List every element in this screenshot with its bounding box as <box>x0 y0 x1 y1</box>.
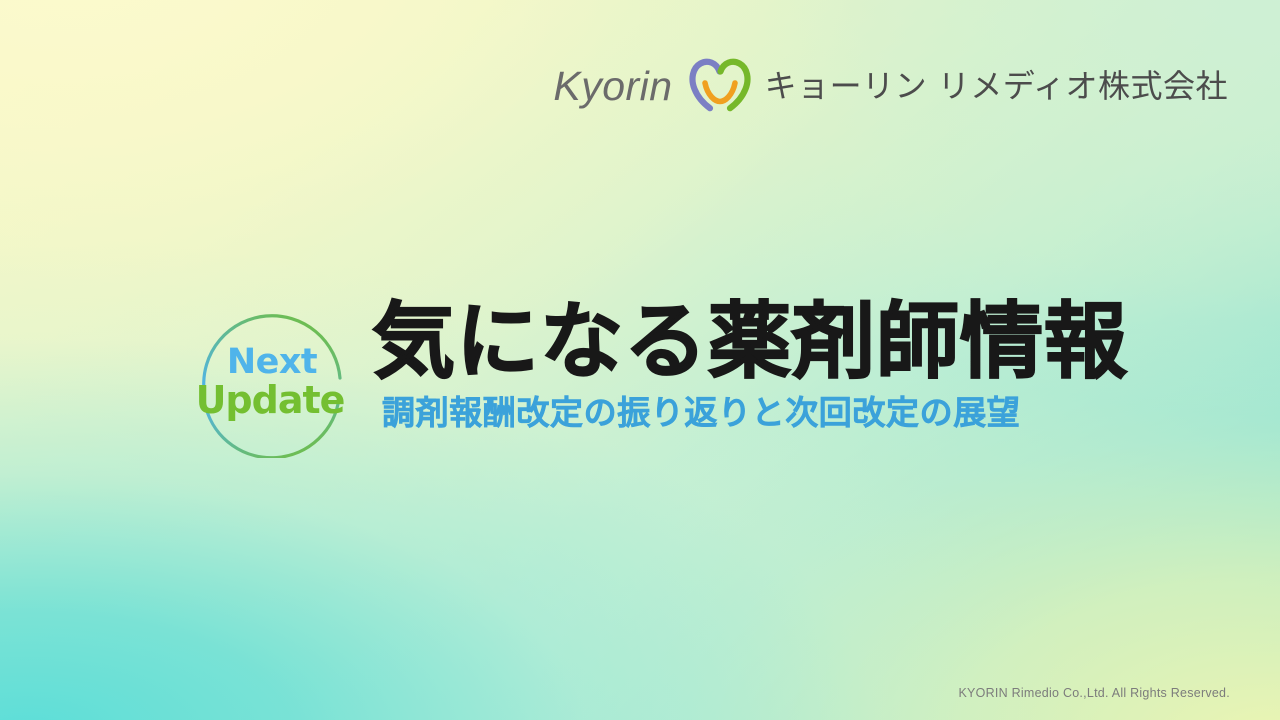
badge-line-update: Update <box>196 382 345 419</box>
title-slide: Kyorin キョーリン リメディオ株式会社 <box>0 0 1280 720</box>
badge-line-next: Next <box>227 345 317 379</box>
copyright-footer: KYORIN Rimedio Co.,Ltd. All Rights Reser… <box>958 686 1230 700</box>
badge-label: Next Update <box>196 306 348 458</box>
kyorin-logo: Kyorin キョーリン リメディオ株式会社 <box>553 58 1228 114</box>
page-subtitle: 調剤報酬改定の振り返りと次回改定の展望 <box>382 395 1128 431</box>
page-title: 気になる薬剤師情報 <box>372 300 1128 385</box>
kyorin-wordmark: Kyorin <box>553 66 672 107</box>
kyorin-company-name-jp: キョーリン リメディオ株式会社 <box>765 70 1228 102</box>
title-block: Next Update 気になる薬剤師情報 調剤報酬改定の振り返りと次回改定の展… <box>196 300 1128 458</box>
kyorin-heart-smile-mark-icon <box>689 58 751 114</box>
next-update-badge: Next Update <box>196 306 348 458</box>
title-text-group: 気になる薬剤師情報 調剤報酬改定の振り返りと次回改定の展望 <box>372 300 1128 431</box>
